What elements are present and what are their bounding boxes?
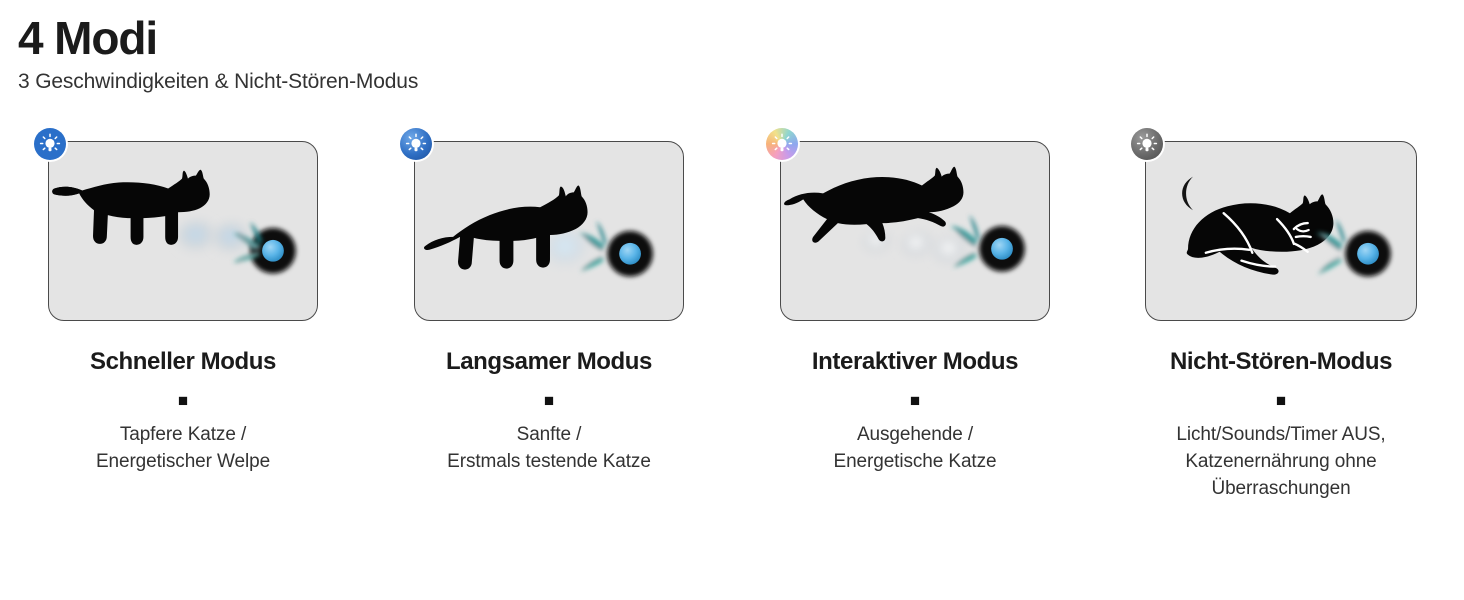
- lightbulb-icon: [1131, 128, 1163, 160]
- badge-mode-light: [398, 126, 434, 162]
- mode-card-slow[interactable]: Langsamer Modus ■ Sanfte / Erstmals test…: [366, 141, 732, 503]
- mode-title: Langsamer Modus: [446, 348, 652, 376]
- mode-separator: ■: [178, 392, 188, 409]
- header: 4 Modi 3 Geschwindigkeiten & Nicht-Störe…: [18, 14, 918, 94]
- page-subtitle: 3 Geschwindigkeiten & Nicht-Stören-Modus: [18, 69, 918, 94]
- lightbulb-icon: [400, 128, 432, 160]
- mode-separator: ■: [1276, 392, 1286, 409]
- scene-cat-pouncing: [781, 142, 1049, 320]
- mode-image-card: [414, 141, 684, 321]
- mode-grid: Schneller Modus ■ Tapfere Katze / Energe…: [0, 141, 1464, 503]
- scene-cat-sleeping: [1146, 142, 1416, 320]
- mode-overview-page: 4 Modi 3 Geschwindigkeiten & Nicht-Störe…: [0, 0, 1464, 600]
- card-wrap: [1145, 141, 1417, 321]
- mode-image-card: [48, 141, 318, 321]
- mode-title: Schneller Modus: [90, 348, 276, 376]
- mode-title: Nicht-Stören-Modus: [1170, 348, 1392, 376]
- mode-description: Sanfte / Erstmals testende Katze: [447, 422, 651, 476]
- lightbulb-icon: [766, 128, 798, 160]
- scene-cat-walking-slow: [415, 142, 683, 320]
- mode-image-card: [780, 141, 1050, 321]
- scene-cat-walking-fast: [49, 142, 317, 320]
- mode-card-do-not-disturb[interactable]: Nicht-Stören-Modus ■ Licht/Sounds/Timer …: [1098, 141, 1464, 503]
- mode-card-interactive[interactable]: Interaktiver Modus ■ Ausgehende / Energe…: [732, 141, 1098, 503]
- mode-separator: ■: [910, 392, 920, 409]
- card-wrap: [48, 141, 318, 321]
- mode-image-card: [1145, 141, 1417, 321]
- card-wrap: [780, 141, 1050, 321]
- mode-separator: ■: [544, 392, 554, 409]
- page-title: 4 Modi: [18, 14, 918, 62]
- badge-mode-light-off: [1129, 126, 1165, 162]
- badge-mode-light: [32, 126, 68, 162]
- mode-card-fast[interactable]: Schneller Modus ■ Tapfere Katze / Energe…: [0, 141, 366, 503]
- card-wrap: [414, 141, 684, 321]
- mode-description: Ausgehende / Energetische Katze: [834, 422, 997, 476]
- badge-mode-light: [764, 126, 800, 162]
- mode-description: Licht/Sounds/Timer AUS, Katzenernährung …: [1176, 422, 1385, 503]
- moon: [1182, 177, 1193, 211]
- lightbulb-icon: [34, 128, 66, 160]
- mode-title: Interaktiver Modus: [812, 348, 1018, 376]
- mode-description: Tapfere Katze / Energetischer Welpe: [96, 422, 270, 476]
